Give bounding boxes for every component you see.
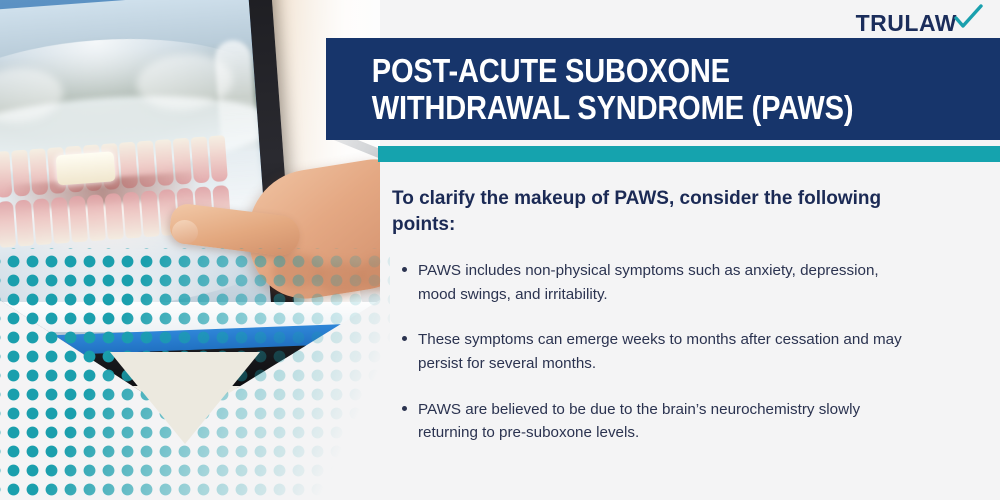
bullet-icon <box>402 267 407 272</box>
bullet-icon <box>402 406 407 411</box>
infographic-canvas: TRULAW Post-Acute Suboxone Withdrawal Sy… <box>0 0 1000 500</box>
trulaw-logo[interactable]: TRULAW <box>856 8 984 38</box>
checkmark-icon <box>954 4 984 35</box>
list-item: PAWS includes non-physical symptoms such… <box>392 259 912 306</box>
xray-dental-crown <box>56 151 116 185</box>
list-item: These symptoms can emerge weeks to month… <box>392 328 912 375</box>
bullet-icon <box>402 336 407 341</box>
list-item: PAWS are believed to be due to the brain… <box>392 398 912 445</box>
bullet-list: PAWS includes non-physical symptoms such… <box>392 259 912 444</box>
list-item-text: PAWS are believed to be due to the brain… <box>418 401 860 442</box>
list-item-text: PAWS includes non-physical symptoms such… <box>418 262 879 303</box>
subheading: To clarify the makeup of PAWS, consider … <box>392 186 912 237</box>
list-item-text: These symptoms can emerge weeks to month… <box>418 331 902 372</box>
logo-wordmark: TRULAW <box>856 12 957 35</box>
title-banner: Post-Acute Suboxone Withdrawal Syndrome … <box>326 38 1000 140</box>
teal-accent-bar <box>378 146 1000 162</box>
page-title: Post-Acute Suboxone Withdrawal Syndrome … <box>326 52 919 127</box>
content-panel: To clarify the makeup of PAWS, consider … <box>392 186 912 467</box>
